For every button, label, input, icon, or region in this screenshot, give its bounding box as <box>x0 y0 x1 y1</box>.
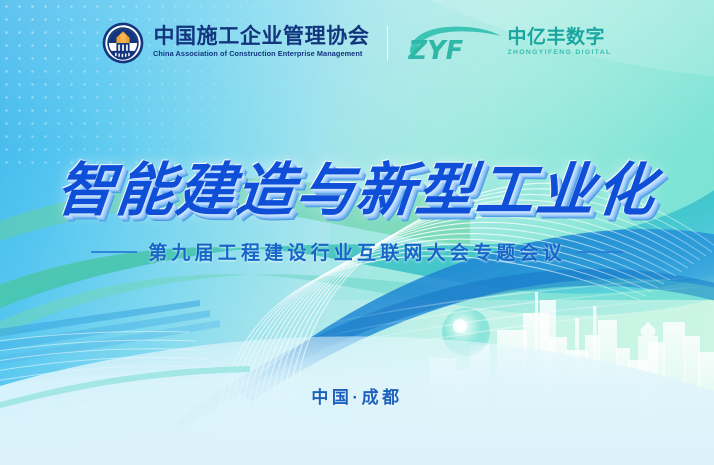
sponsor-name-cn: 中亿丰数字 <box>507 28 611 48</box>
location-text: 中国·成都 <box>0 383 714 408</box>
main-title: 智能建造与新型工业化 <box>53 143 662 227</box>
subtitle-dash-left <box>91 251 137 253</box>
sponsor-name-en: ZHONGYIFENG DIGITAL <box>507 48 611 59</box>
main-title-wrap: 智能建造与新型工业化 <box>0 143 714 227</box>
sponsor-logo: ZYF 中亿丰数字 ZHONGYIFENG DIGITAL <box>406 23 611 63</box>
association-name-en: China Association of Construction Enterp… <box>153 48 367 59</box>
subtitle: 第九届工程建设行业互联网大会专题会议 <box>148 238 566 265</box>
conference-banner: 中国施工企业管理协会 China Association of Construc… <box>0 0 714 465</box>
sponsor-text: 中亿丰数字 ZHONGYIFENG DIGITAL <box>507 28 611 59</box>
zyf-mark-icon: ZYF <box>406 23 502 63</box>
association-text: 中国施工企业管理协会 China Association of Construc… <box>153 26 369 59</box>
orb-highlight <box>453 319 467 333</box>
association-logo: 中国施工企业管理协会 China Association of Construc… <box>102 22 369 64</box>
association-name-cn: 中国施工企业管理协会 <box>153 26 369 48</box>
logo-divider <box>387 26 388 60</box>
china-association-construction-emblem <box>102 22 144 64</box>
subtitle-wrap: 第九届工程建设行业互联网大会专题会议 <box>0 238 714 265</box>
header-logos: 中国施工企业管理协会 China Association of Construc… <box>0 22 714 64</box>
svg-text:ZYF: ZYF <box>408 36 464 63</box>
subtitle-dash-right <box>577 251 623 253</box>
